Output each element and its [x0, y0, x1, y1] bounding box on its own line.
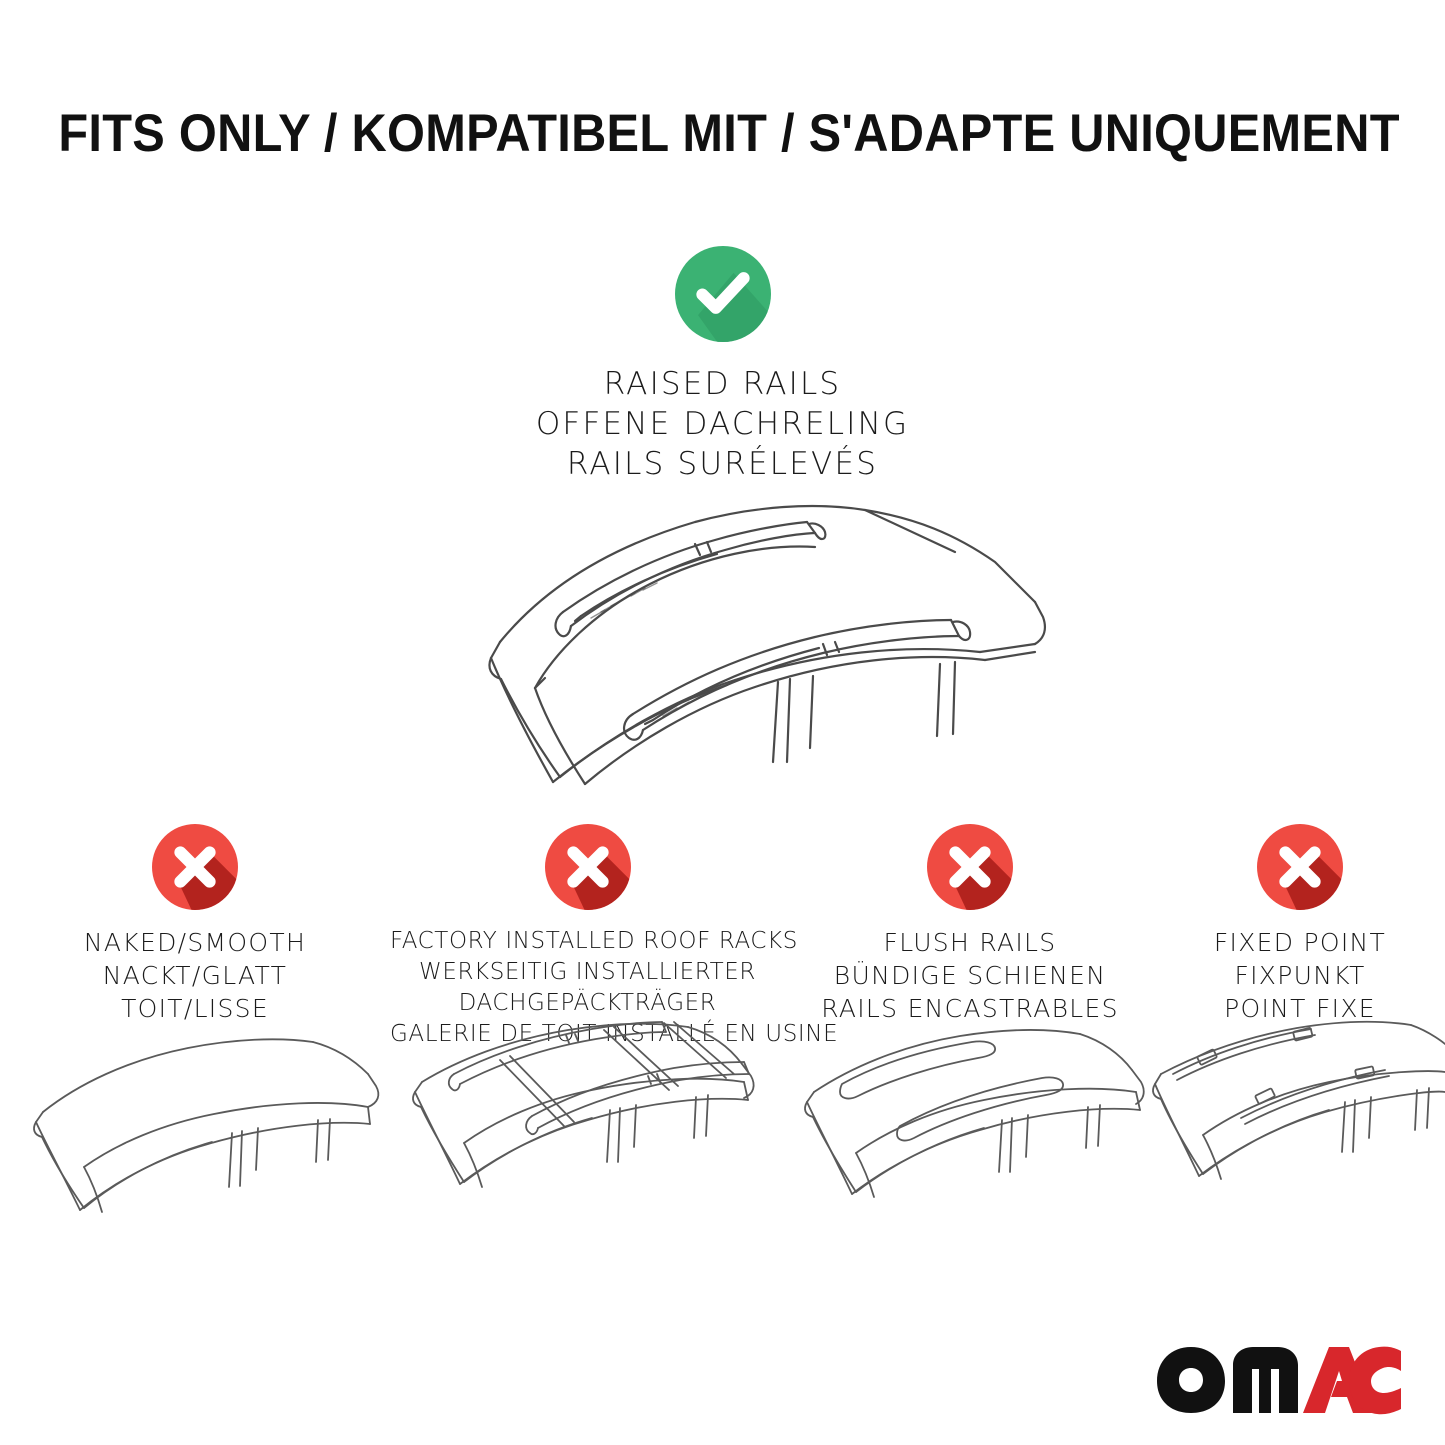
car-roof-fixed-point-illustration: [1145, 1012, 1445, 1247]
flush-rails-label: FLUSH RAILS BÜNDIGE SCHIENEN RAILS ENCAS…: [785, 926, 1155, 1025]
infographic-page: FITS ONLY / KOMPATIBEL MIT / S'ADAPTE UN…: [0, 0, 1445, 1445]
omac-logo-letter-o: [1157, 1347, 1225, 1413]
car-roof-naked-smooth-illustration: [18, 1012, 390, 1247]
incompatible-item-flush-rails: FLUSH RAILS BÜNDIGE SCHIENEN RAILS ENCAS…: [785, 824, 1155, 1025]
fixed-point-icon-wrap: [1155, 824, 1445, 910]
green-check-circle-icon: [675, 246, 771, 342]
fixed-point-label: FIXED POINT FIXPUNKT POINT FIXE: [1155, 926, 1445, 1025]
flush-rails-label-de: BÜNDIGE SCHIENEN: [785, 959, 1155, 992]
incompatible-item-fixed-point: FIXED POINT FIXPUNKT POINT FIXE: [1155, 824, 1445, 1025]
factory-racks-label-en: FACTORY INSTALLED ROOF RACKS: [390, 926, 785, 957]
red-cross-circle-icon: [545, 824, 631, 910]
omac-logo: [1153, 1343, 1403, 1415]
incompatible-item-naked-smooth: NAKED/SMOOTH NACKT/GLATT TOIT/LISSE: [0, 824, 390, 1025]
compatible-label-fr: RAILS SURÉLEVÉS: [0, 444, 1445, 484]
fixed-point-label-en: FIXED POINT: [1155, 926, 1445, 959]
car-roof-raised-rails-illustration: [395, 492, 1055, 792]
compatible-icon-wrap: [0, 246, 1445, 342]
car-roof-factory-racks-illustration: [392, 1012, 772, 1247]
flush-rails-label-en: FLUSH RAILS: [785, 926, 1155, 959]
page-title-text: FITS ONLY / KOMPATIBEL MIT / S'ADAPTE UN…: [58, 104, 1399, 164]
fixed-point-label-de: FIXPUNKT: [1155, 959, 1445, 992]
factory-racks-label-de1: WERKSEITIG INSTALLIERTER: [390, 957, 785, 988]
page-title: FITS ONLY / KOMPATIBEL MIT / S'ADAPTE UN…: [0, 104, 1445, 164]
car-roof-flush-rails-illustration: [780, 1012, 1160, 1247]
red-cross-circle-icon: [1257, 824, 1343, 910]
naked-smooth-label-de: NACKT/GLATT: [0, 959, 390, 992]
compatible-section: RAISED RAILS OFFENE DACHRELING RAILS SUR…: [0, 246, 1445, 484]
incompatible-illustrations: [0, 1012, 1445, 1247]
naked-smooth-label: NAKED/SMOOTH NACKT/GLATT TOIT/LISSE: [0, 926, 390, 1025]
factory-racks-icon-wrap: [390, 824, 785, 910]
compatible-label-en: RAISED RAILS: [0, 364, 1445, 404]
compatible-label-de: OFFENE DACHRELING: [0, 404, 1445, 444]
flush-rails-icon-wrap: [785, 824, 1155, 910]
compatible-label: RAISED RAILS OFFENE DACHRELING RAILS SUR…: [0, 364, 1445, 484]
naked-smooth-label-en: NAKED/SMOOTH: [0, 926, 390, 959]
red-cross-circle-icon: [927, 824, 1013, 910]
red-cross-circle-icon: [152, 824, 238, 910]
omac-logo-letter-m: [1233, 1347, 1298, 1413]
naked-smooth-icon-wrap: [0, 824, 390, 910]
